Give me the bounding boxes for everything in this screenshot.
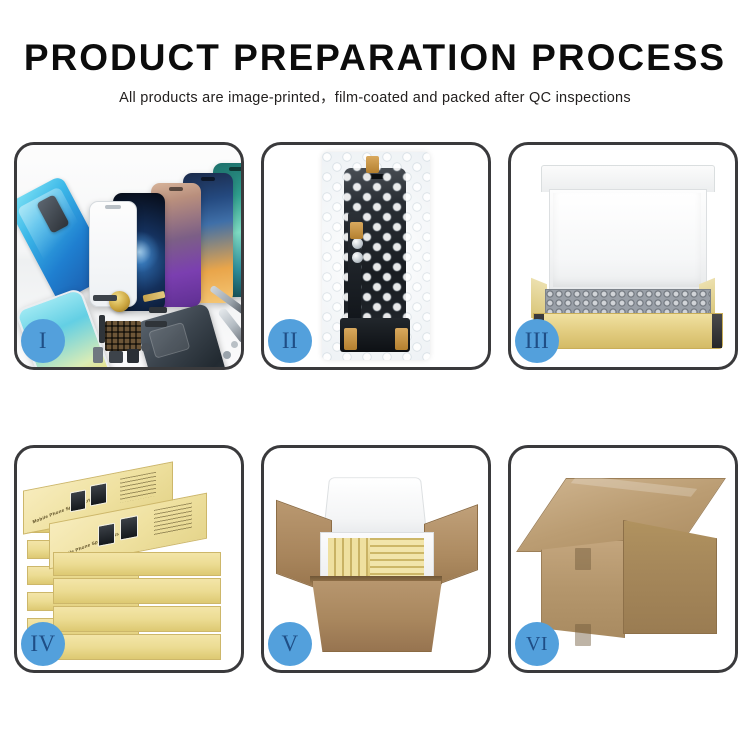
flex-cable-icon-b xyxy=(99,315,105,343)
packed-retail-boxes-icon xyxy=(328,538,424,580)
step-badge-3: III xyxy=(515,319,559,363)
speaker-module-icon xyxy=(109,351,123,363)
chip-array-icon xyxy=(105,321,141,351)
box-artwork-phone-d xyxy=(120,515,138,540)
carton-front-panel-icon xyxy=(312,580,442,652)
process-step-2[interactable]: II xyxy=(261,142,491,370)
retail-box-edge xyxy=(53,552,221,576)
flex-cable-icon-c xyxy=(145,321,167,327)
process-step-4[interactable]: Mobile Phone Spare Parts Mobile Phone Sp… xyxy=(14,445,244,673)
retail-box-edge xyxy=(53,578,221,604)
tape-tab-icon-a xyxy=(366,156,379,173)
metal-shield-icon-a xyxy=(352,238,363,249)
tape-tab-icon-d xyxy=(395,328,408,350)
screw-icon-a xyxy=(141,343,150,352)
step-badge-1: I xyxy=(21,319,65,363)
tape-tab-icon-b xyxy=(350,222,363,239)
flex-cable-icon-a xyxy=(149,307,167,313)
process-step-5[interactable]: V xyxy=(261,445,491,673)
part-strip-icon xyxy=(93,295,117,301)
step-badge-6: VI xyxy=(515,622,559,666)
page-header: PRODUCT PREPARATION PROCESS All products… xyxy=(0,0,750,107)
carton-right-face-icon xyxy=(623,520,717,634)
process-step-3[interactable]: III xyxy=(508,142,738,370)
page-title: PRODUCT PREPARATION PROCESS xyxy=(0,36,750,80)
foam-sheet-icon xyxy=(553,193,701,287)
box-lid-icon xyxy=(541,165,715,192)
process-step-1[interactable]: I xyxy=(14,142,244,370)
foam-cooler-lid-icon xyxy=(322,477,427,538)
page-subtitle: All products are image-printed，film-coat… xyxy=(0,86,750,107)
screw-icon-b xyxy=(223,351,231,359)
tape-tab-icon-c xyxy=(344,328,357,350)
process-step-grid: I II xyxy=(14,142,738,673)
step-badge-5: V xyxy=(268,622,312,666)
box-artwork-phone-c xyxy=(98,523,115,547)
step-badge-2: II xyxy=(268,319,312,363)
metal-shield-icon-b xyxy=(352,252,363,263)
small-part-icon xyxy=(127,349,139,363)
retail-box-edge xyxy=(53,634,221,660)
process-step-6[interactable]: VI xyxy=(508,445,738,673)
camera-module-icon xyxy=(93,347,103,363)
carton-tape-mark-upper xyxy=(575,548,591,570)
box-artwork-phone-a xyxy=(70,489,86,512)
box-artwork-text-lines-a xyxy=(120,472,156,503)
box-front-panel-icon xyxy=(533,313,723,349)
screw-icon-c xyxy=(231,341,238,348)
box-artwork-phone-b xyxy=(90,482,107,506)
phone-glass-panel-icon xyxy=(89,201,137,307)
step-badge-4: IV xyxy=(21,622,65,666)
retail-box-edge xyxy=(53,606,221,632)
carton-tape-mark-lower xyxy=(575,624,591,646)
box-artwork-text-lines-b xyxy=(154,503,192,536)
bubble-wrap-bag xyxy=(322,152,430,360)
